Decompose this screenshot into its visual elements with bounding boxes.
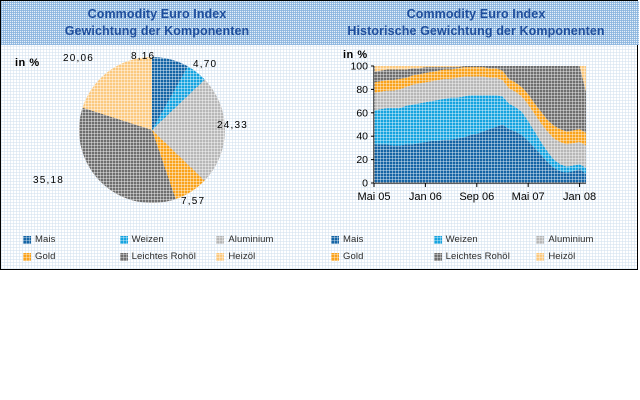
pie-value-aluminium: 24,33 xyxy=(217,120,248,131)
legend-label-gold: Gold xyxy=(35,251,55,262)
area-xtick-label: Sep 06 xyxy=(459,191,494,203)
legend-item-rohoel[interactable]: Leichtes Rohöl xyxy=(434,251,537,262)
legend-label-mais: Mais xyxy=(35,234,55,245)
legend-swatch-mais xyxy=(23,236,31,244)
legend-item-heizoel[interactable]: Heizöl xyxy=(216,251,313,262)
pie-chart-title-line2: Gewichtung der Komponenten xyxy=(65,23,250,40)
legend-item-heizoel[interactable]: Heizöl xyxy=(536,251,639,262)
pie-value-gold: 7,57 xyxy=(181,196,205,207)
pie-graphic xyxy=(79,57,225,203)
legend-item-aluminium[interactable]: Aluminium xyxy=(536,234,639,245)
legend-swatch-heizoel xyxy=(216,253,224,261)
area-ytick-label: 80 xyxy=(356,84,368,96)
legend-label-heizoel: Heizöl xyxy=(228,251,255,262)
legend-item-rohoel[interactable]: Leichtes Rohöl xyxy=(120,251,217,262)
legend-swatch-mais xyxy=(331,236,339,244)
area-chart-legend: MaisWeizenAluminiumGoldLeichtes RohölHei… xyxy=(313,231,639,265)
pie-chart-body: in % 8,16 4,70 24,33 7,57 35,18 20,06 Ma… xyxy=(1,45,313,269)
area-xtick-label: Mai 07 xyxy=(512,191,545,203)
legend-swatch-weizen xyxy=(120,236,128,244)
legend-label-gold: Gold xyxy=(343,251,363,262)
legend-swatch-gold xyxy=(23,253,31,261)
legend-item-weizen[interactable]: Weizen xyxy=(120,234,217,245)
screenshot-root: Commodity Euro Index Gewichtung der Komp… xyxy=(0,0,640,400)
area-xtick-label: Mai 05 xyxy=(357,191,390,203)
area-ytick-label: 0 xyxy=(362,178,368,190)
pie-chart-title-line1: Commodity Euro Index xyxy=(88,6,227,23)
legend-label-weizen: Weizen xyxy=(132,234,164,245)
chart-frame: Commodity Euro Index Gewichtung der Komp… xyxy=(0,0,638,270)
area-chart-svg: 020406080100Mai 05Jan 06Sep 06Mai 07Jan … xyxy=(341,61,623,211)
legend-swatch-weizen xyxy=(434,236,442,244)
pie-chart-titlebar: Commodity Euro Index Gewichtung der Komp… xyxy=(1,1,313,45)
legend-item-mais[interactable]: Mais xyxy=(23,234,120,245)
legend-item-mais[interactable]: Mais xyxy=(331,234,434,245)
area-chart-titlebar: Commodity Euro Index Historische Gewicht… xyxy=(313,1,639,45)
pie-value-heizoel: 20,06 xyxy=(63,53,94,64)
legend-item-weizen[interactable]: Weizen xyxy=(434,234,537,245)
area-xtick-label: Jan 06 xyxy=(409,191,442,203)
pie-value-mais: 8,16 xyxy=(131,51,155,62)
legend-label-rohoel: Leichtes Rohöl xyxy=(446,251,510,262)
area-ytick-label: 100 xyxy=(350,61,368,73)
legend-label-aluminium: Aluminium xyxy=(228,234,273,245)
legend-swatch-rohoel xyxy=(120,253,128,261)
legend-swatch-aluminium xyxy=(536,236,544,244)
area-unit-label: in % xyxy=(343,49,368,61)
pie-unit-label: in % xyxy=(15,57,40,69)
legend-label-heizoel: Heizöl xyxy=(548,251,575,262)
area-ytick-label: 40 xyxy=(356,131,368,143)
pie-chart-legend: MaisWeizenAluminiumGoldLeichtes RohölHei… xyxy=(1,231,313,265)
pie-value-rohoel: 35,18 xyxy=(33,175,64,186)
pie-slices xyxy=(79,57,225,203)
area-chart-title-line1: Commodity Euro Index xyxy=(407,6,546,23)
legend-label-weizen: Weizen xyxy=(446,234,478,245)
legend-item-gold[interactable]: Gold xyxy=(23,251,120,262)
area-chart-title-line2: Historische Gewichtung der Komponenten xyxy=(347,23,604,40)
area-ytick-label: 20 xyxy=(356,154,368,166)
legend-swatch-heizoel xyxy=(536,253,544,261)
legend-label-aluminium: Aluminium xyxy=(548,234,593,245)
area-chart-body: in % 020406080100Mai 05Jan 06Sep 06Mai 0… xyxy=(313,45,639,269)
area-ytick-label: 60 xyxy=(356,107,368,119)
area-xtick-label: Jan 08 xyxy=(563,191,596,203)
area-graphic: 020406080100Mai 05Jan 06Sep 06Mai 07Jan … xyxy=(341,61,623,211)
legend-item-aluminium[interactable]: Aluminium xyxy=(216,234,313,245)
legend-swatch-aluminium xyxy=(216,236,224,244)
legend-swatch-rohoel xyxy=(434,253,442,261)
area-chart-panel: Commodity Euro Index Historische Gewicht… xyxy=(313,1,639,269)
pie-value-weizen: 4,70 xyxy=(193,59,217,70)
pie-chart-panel: Commodity Euro Index Gewichtung der Komp… xyxy=(1,1,313,269)
legend-item-gold[interactable]: Gold xyxy=(331,251,434,262)
legend-label-mais: Mais xyxy=(343,234,363,245)
legend-swatch-gold xyxy=(331,253,339,261)
legend-label-rohoel: Leichtes Rohöl xyxy=(132,251,196,262)
